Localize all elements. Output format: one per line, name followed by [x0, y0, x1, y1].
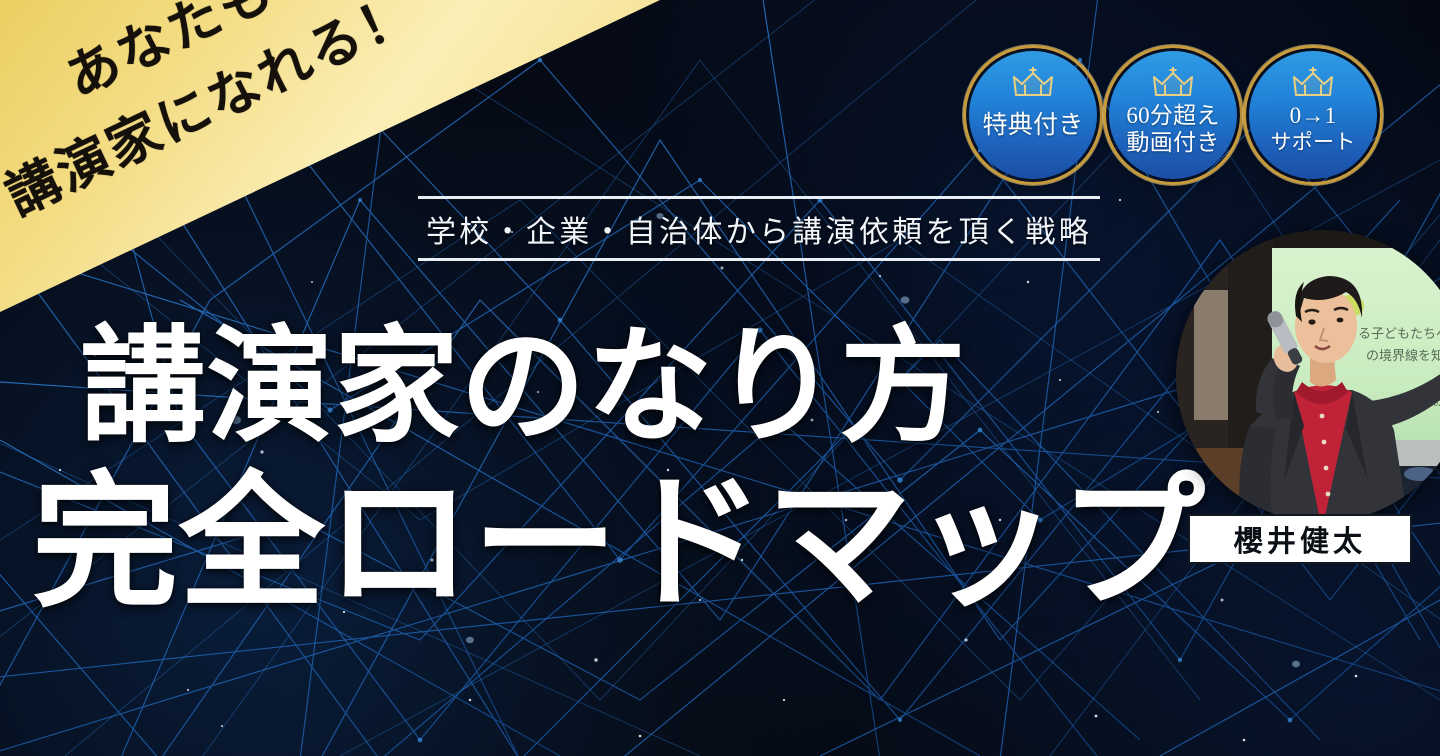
crown-icon: [1289, 65, 1337, 99]
svg-text:の境界線を知: の境界線を知: [1366, 348, 1440, 364]
crown-icon: [1149, 65, 1197, 99]
badge-label-line2: 動画付き: [1126, 130, 1219, 157]
badge-group: 特典付き 60分超え 動画付き: [966, 48, 1380, 182]
badge-label-line1: 0→1: [1271, 103, 1356, 130]
headline-line-1: 講演家のなり方: [80, 324, 1206, 450]
badge-label-line1: 60分超え: [1126, 103, 1219, 130]
badge-video-included[interactable]: 60分超え 動画付き: [1106, 48, 1240, 182]
subtitle-rule-bottom: [418, 258, 1100, 261]
svg-text:る子どもたちへ』: る子どもたちへ』: [1358, 327, 1440, 342]
headline-block: 講演家のなり方 完全ロードマップ: [0, 324, 1206, 616]
badge-bonus-included[interactable]: 特典付き: [966, 48, 1100, 182]
badge-label-line1: 特典付き: [982, 111, 1083, 140]
badge-label-line2: サポート: [1271, 130, 1356, 154]
hero-banner: あなたも 講演家になれる！ 特典付き: [0, 0, 1440, 756]
speaker-nameplate: 櫻井健太: [1188, 514, 1412, 564]
subtitle-text: 学校・企業・自治体から講演依頼を頂く戦略: [418, 199, 1100, 258]
subtitle-block: 学校・企業・自治体から講演依頼を頂く戦略: [418, 196, 1100, 261]
headline-line-2: 完全ロードマップ: [32, 470, 1206, 616]
crown-icon: [1009, 65, 1057, 99]
speaker-name: 櫻井健太: [1234, 518, 1366, 560]
badge-zero-to-one-support[interactable]: 0→1 サポート: [1246, 48, 1380, 182]
